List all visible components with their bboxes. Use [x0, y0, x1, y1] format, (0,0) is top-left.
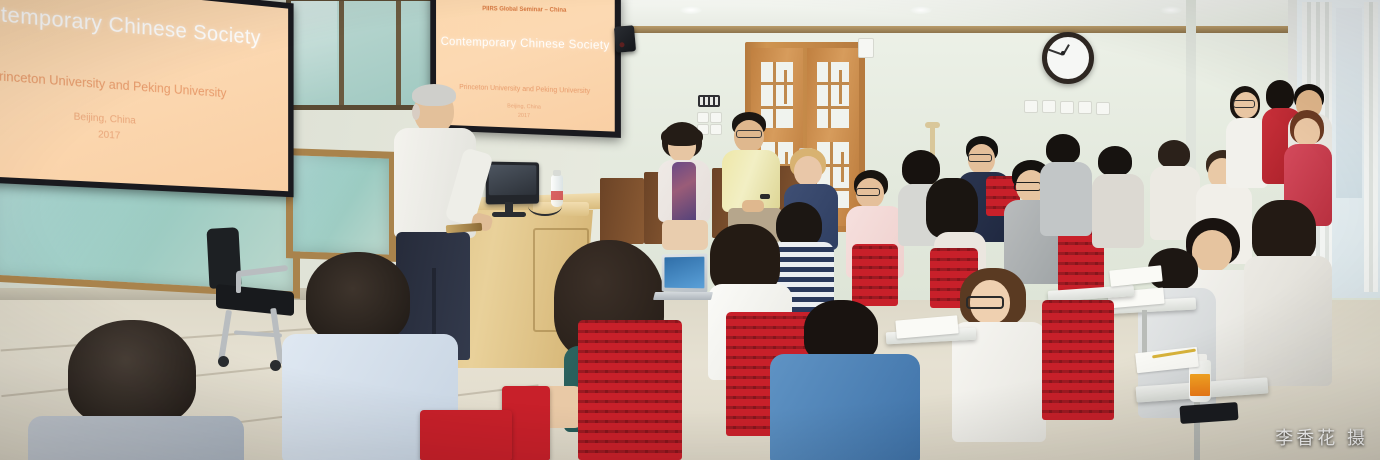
- left-projection-screen: ontemporary Chinese Society Princeton Un…: [0, 0, 294, 197]
- attendee-hair: [306, 252, 410, 344]
- bottle-label: [1190, 374, 1210, 396]
- observer-head: [1294, 118, 1320, 146]
- laptop-base: [653, 292, 713, 300]
- wall-speaker: [614, 25, 636, 53]
- wall-panel-dark[interactable]: [698, 95, 720, 107]
- ceiling-light: [910, 6, 932, 14]
- light-switch[interactable]: [1024, 100, 1038, 113]
- attendee-hair: [68, 320, 196, 426]
- guest-man-hands: [742, 200, 764, 212]
- desk-leg: [1142, 310, 1147, 358]
- light-switch[interactable]: [1060, 101, 1074, 114]
- student-shirt: [770, 354, 920, 460]
- support-pole-top: [925, 122, 940, 128]
- podium-edge-highlight: [446, 223, 482, 233]
- laptop-screen: [664, 257, 704, 289]
- wall-thermostat[interactable]: [858, 38, 874, 58]
- monitor-cable: [528, 196, 562, 216]
- wall-clock: [1042, 32, 1094, 84]
- student-hair: [926, 178, 978, 238]
- light-switch[interactable]: [1096, 102, 1110, 115]
- right-slide-title: Contemporary Chinese Society: [436, 36, 615, 52]
- light-switch[interactable]: [1078, 101, 1092, 114]
- lecturer-ear: [412, 104, 420, 120]
- ceiling: [560, 0, 1380, 26]
- student-glasses: [968, 154, 992, 162]
- student-hair: [1098, 146, 1132, 176]
- student-glasses: [1014, 182, 1041, 191]
- laptop[interactable]: [662, 254, 708, 293]
- student-back-row: [1040, 134, 1098, 244]
- guest-woman-dress: [672, 162, 696, 226]
- left-slide-affiliation: Princeton University and Peking Universi…: [0, 68, 277, 104]
- ceiling-light: [1160, 6, 1182, 14]
- light-switch[interactable]: [1042, 100, 1056, 113]
- student-hair: [1046, 134, 1080, 164]
- guest-man-glasses: [736, 130, 762, 138]
- guest-man-watch: [760, 194, 770, 199]
- student-shirt: [1040, 162, 1092, 236]
- right-slide-header: PIIRS Global Seminar – China: [436, 5, 615, 14]
- attendee-shirt: [28, 416, 244, 460]
- student-hair: [1252, 200, 1316, 262]
- window-pane: [1336, 8, 1362, 198]
- lecture-hall-photo: ontemporary Chinese Society Princeton Un…: [0, 0, 1380, 460]
- chair-armrest: [236, 265, 288, 277]
- observer-glasses: [1233, 100, 1255, 108]
- red-chair[interactable]: [1042, 300, 1114, 420]
- ceiling-light: [680, 6, 702, 14]
- wall-trim-rail: [600, 26, 1380, 33]
- photographer-credit: 李香花 摄: [1275, 424, 1368, 450]
- student-shirt: [1244, 256, 1332, 386]
- student-hair: [804, 300, 878, 362]
- student-glasses: [966, 296, 1004, 309]
- red-chair[interactable]: [420, 410, 512, 460]
- wooden-chair[interactable]: [600, 178, 644, 244]
- student-glasses: [856, 188, 880, 196]
- student-back-row: [1092, 146, 1150, 256]
- guest-woman-fringe: [661, 126, 703, 146]
- door-lattice-panel: [817, 62, 849, 128]
- student-hair: [1158, 140, 1190, 168]
- red-chair[interactable]: [578, 320, 682, 460]
- vertical-blinds[interactable]: [1364, 2, 1378, 292]
- chair-caster: [270, 360, 281, 371]
- attendee-foreground-left: [28, 320, 248, 460]
- red-chair[interactable]: [852, 244, 898, 306]
- left-slide-title: ontemporary Chinese Society: [0, 0, 273, 51]
- lecturer-hair: [412, 84, 456, 106]
- student-shirt: [1092, 174, 1144, 248]
- chair-arm-post: [236, 273, 241, 293]
- student-head: [794, 156, 822, 186]
